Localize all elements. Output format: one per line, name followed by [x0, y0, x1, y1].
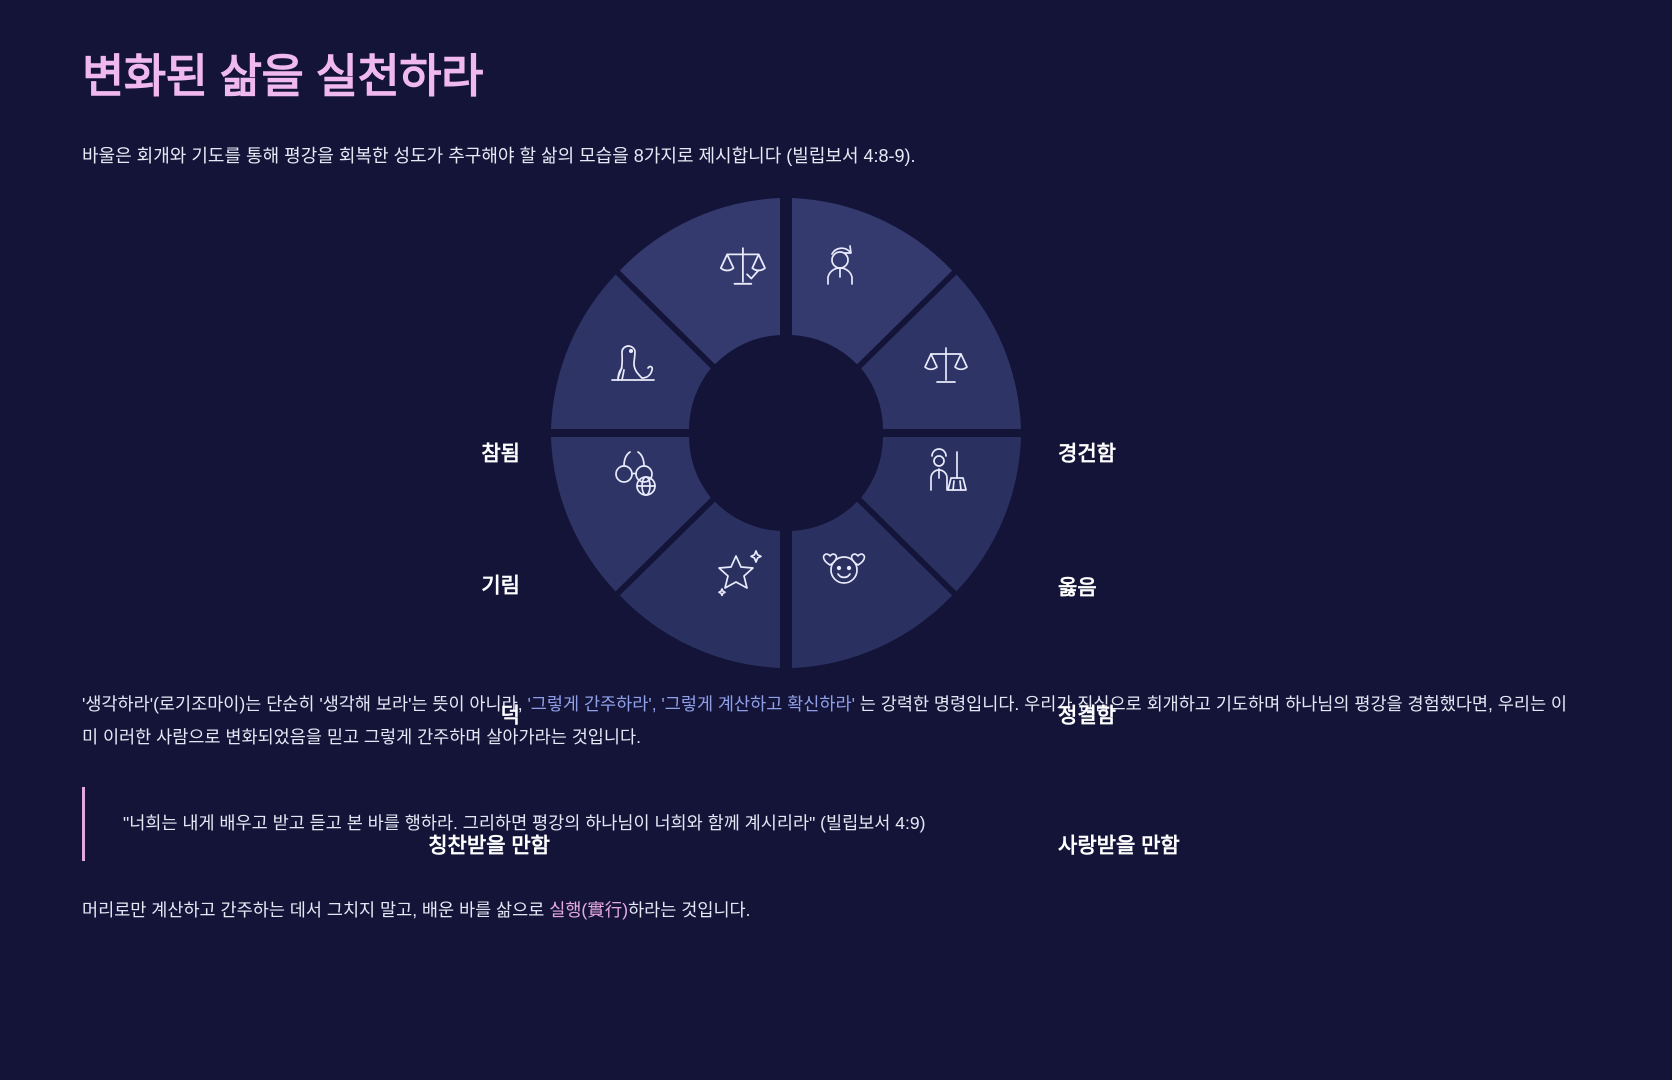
explanation-highlight: '그렇게 간주하라', '그렇게 계산하고 확신하라'	[527, 694, 854, 714]
wheel-label-reverence: 경건함	[1058, 444, 1116, 465]
closing-part-b: 하라는 것입니다.	[628, 900, 750, 920]
closing-paragraph: 머리로만 계산하고 간주하는 데서 그치지 말고, 배운 바를 삶으로 실행(實…	[0, 861, 1672, 987]
eight-virtues-wheel: 참됨 기림 덕 칭찬받을 만함 경건함 옳음 정결함 사랑받을 만함	[0, 188, 1672, 688]
explanation-paragraph: '생각하라'(로기조마이)는 단순히 '생각해 보라'는 뜻이 아니라, '그렇…	[0, 688, 1672, 753]
wheel-label-praiseworthy: 칭찬받을 만함	[428, 836, 550, 857]
wheel-stage	[536, 188, 1036, 678]
explanation-part-a: '생각하라'(로기조마이)는 단순히 '생각해 보라'는 뜻이 아니라,	[82, 694, 527, 714]
closing-part-a: 머리로만 계산하고 간주하는 데서 그치지 말고, 배운 바를 삶으로	[82, 900, 549, 920]
scripture-blockquote: "너희는 내게 배우고 받고 듣고 본 바를 행하라. 그리하면 평강의 하나님…	[82, 787, 1672, 861]
wheel-label-right: 옳음	[1058, 578, 1097, 599]
slide-page: 변화된 삶을 실천하라 바울은 회개와 기도를 통해 평강을 회복한 성도가 추…	[0, 0, 1672, 1080]
lede-paragraph: 바울은 회개와 기도를 통해 평강을 회복한 성도가 추구해야 할 삶의 모습을…	[0, 106, 1672, 171]
wheel-hub	[696, 343, 876, 523]
closing-accent: 실행(實行)	[549, 900, 628, 920]
wheel-label-lovely: 사랑받을 만함	[1058, 836, 1180, 857]
wheel-label-truth: 참됨	[481, 444, 520, 465]
wheel-label-virtue: 덕	[501, 706, 520, 727]
wheel-label-purity: 정결함	[1058, 706, 1116, 727]
page-title: 변화된 삶을 실천하라	[0, 0, 1672, 106]
wheel-label-honor: 기림	[481, 576, 520, 597]
wheel-diagram	[536, 188, 1036, 678]
